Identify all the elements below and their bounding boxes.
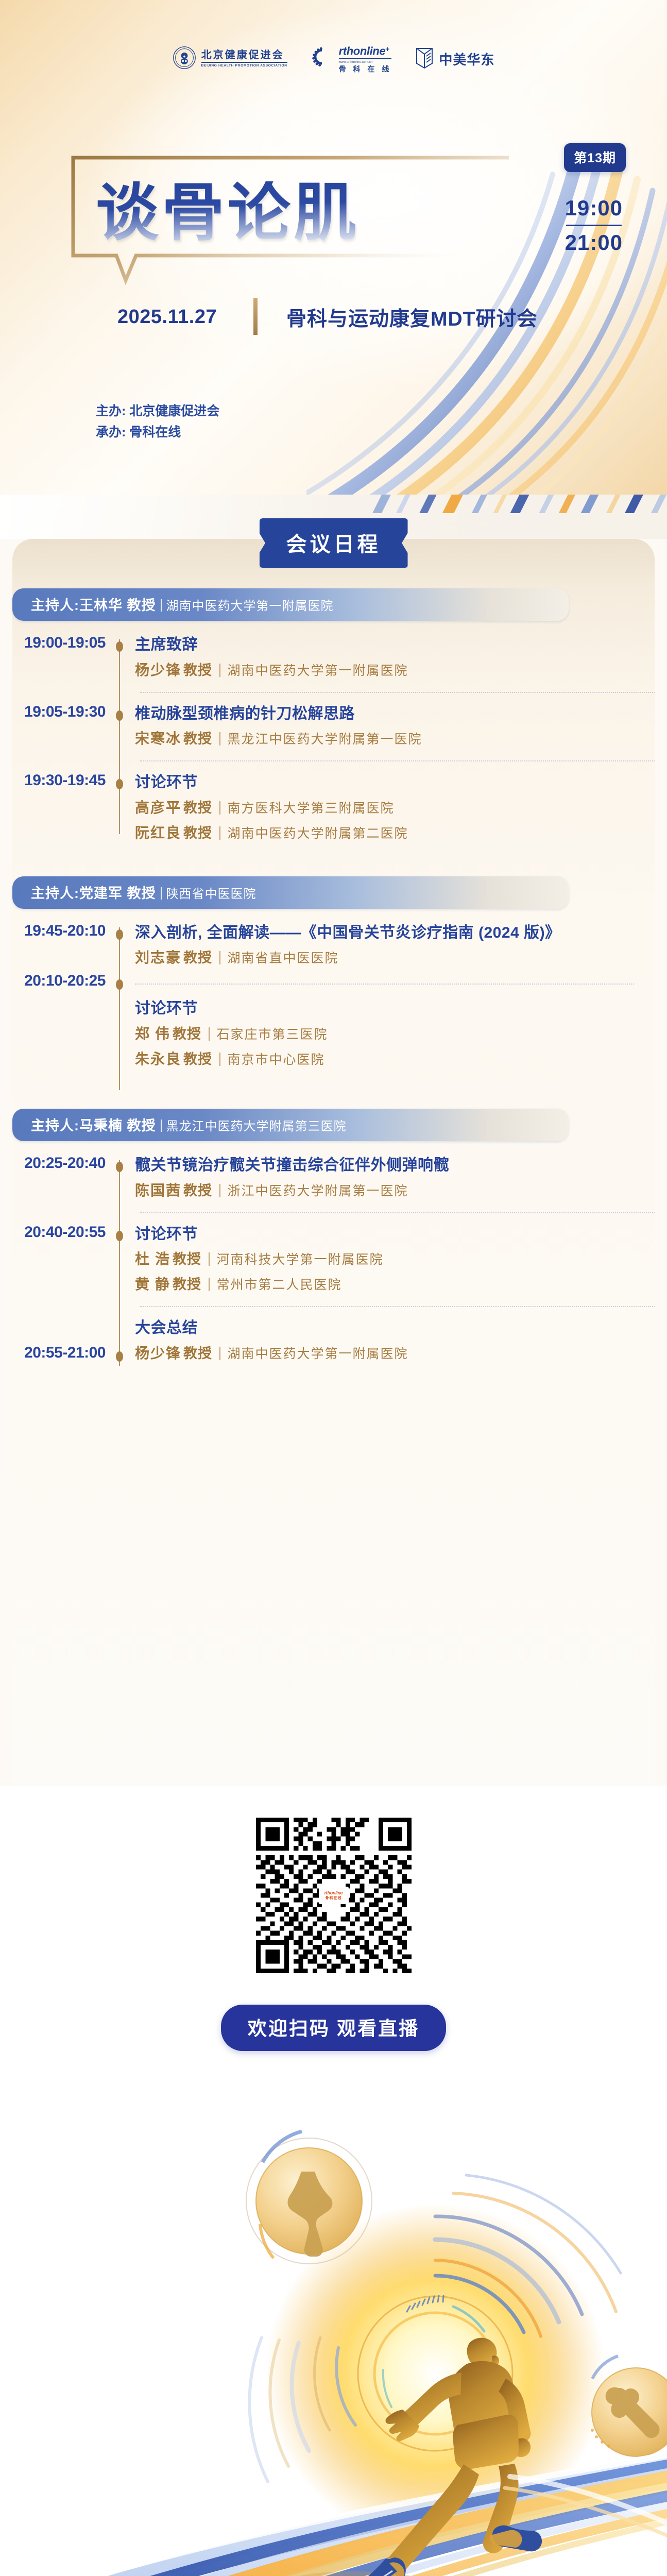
speaker-title: 教授 [183,731,212,747]
speaker-divider [219,1184,220,1197]
item-time: 20:55-21:00 [12,1317,114,1362]
host-institution: 湖南中医药大学第一附属医院 [166,600,334,613]
session-items: 19:45-20:10 深入剖析, 全面解读——《中国骨关节炎诊疗指南 (202… [12,922,655,1071]
timeline-dot-icon [116,710,123,721]
agenda-heading: 会议日程 [260,518,408,568]
agenda-item: 19:05-19:30 椎动脉型颈椎病的针刀松解思路 宋寒冰 教授 黑龙江中医药… [12,703,655,751]
event-date: 2025.11.27 [117,306,217,328]
speaker-divider [209,1278,210,1291]
hero-vertical-divider [253,298,258,335]
speaker-name: 刘志豪 [135,950,181,966]
speaker-divider [219,826,220,840]
agenda-item: 20:55-21:00 大会总结 杨少锋 教授 湖南中医药大学第一附属医院 [12,1317,655,1365]
speaker-name: 杨少锋 [135,663,181,679]
item-speaker: 陈国茜 教授 浙江中医药大学附属第一医院 [135,1180,634,1202]
logo-zhongmei-huadong: 中美华东 [415,46,494,72]
host-name: 马秉楠 教授 [79,1118,156,1133]
hero-section: 北京健康促进会 BEIJING HEALTH PROMOTION ASSOCIA… [0,0,667,495]
timeline-dot-icon [116,1231,123,1241]
speaker-institution: 黑龙江中医药大学附属第一医院 [228,733,422,747]
item-speaker: 杨少锋 教授 湖南中医药大学第一附属医院 [135,660,634,682]
item-topic: 椎动脉型颈椎病的针刀松解思路 [135,703,634,725]
logo-orthonline: rthonline+ www.orthonline.com.cn 骨 科 在 线 [311,45,392,73]
session-items: 19:00-19:05 主席致辞 杨少锋 教授 湖南中医药大学第一附属医院 [12,634,655,844]
qr-logo-line1: rthonline [324,1890,343,1895]
event-time-block: 19:00 21:00 [565,196,623,256]
host-divider [161,1120,162,1132]
prism-cube-icon [415,46,434,72]
speaker-title: 教授 [183,825,212,841]
qr-center-logo-icon: rthonline 骨科在线 [319,1887,349,1904]
speaker-name: 杨少锋 [135,1346,181,1362]
speaker-divider [219,1347,220,1360]
speaker-title: 教授 [183,1183,212,1198]
speaker-name: 阮红良 [135,825,181,841]
host-institution: 陕西省中医医院 [166,888,256,901]
orthonline-swirl-icon [311,46,334,72]
speaker-divider [219,664,220,677]
logo-label-cn: 中美华东 [439,49,494,69]
host-divider [161,599,162,612]
organizer-block: 主办: 北京健康促进会 承办: 骨科在线 [96,401,219,444]
speaker-divider [219,1053,220,1066]
logo-label-orthonline: rthonline [339,44,386,57]
item-speaker: 朱永良 教授 南京市中心医院 [135,1049,634,1071]
logo-divider-rule [339,58,392,59]
speaker-divider [209,1252,210,1266]
item-separator [140,1212,655,1213]
speaker-title: 教授 [183,1346,212,1361]
speaker-title: 教授 [173,1026,201,1042]
item-separator [140,692,655,693]
speaker-divider [219,801,220,815]
logo-divider-rule [201,62,287,63]
speaker-title: 教授 [183,800,212,816]
agenda-item: 19:30-19:45 讨论环节 高彦平 教授 南方医科大学第三附属医院 阮红良… [12,772,655,844]
qr-logo-line2: 骨科在线 [326,1895,342,1901]
speaker-name: 杜 浩 [135,1251,170,1267]
agenda-item: 20:25-20:40 髋关节镜治疗髋关节撞击综合征伴外侧弹响髋 陈国茜 教授 … [12,1155,655,1202]
event-subtitle: 骨科与运动康复MDT研讨会 [286,303,537,332]
diagonal-stripes-decoration [0,495,667,513]
association-emblem-icon [173,46,196,72]
page-title: 谈骨论肌 [96,181,360,244]
issue-number-badge: 第13期 [564,143,626,172]
item-speaker: 刘志豪 教授 湖南省直中医医院 [135,947,634,969]
speaker-name: 陈国茜 [135,1183,181,1199]
speaker-name: 朱永良 [135,1052,181,1067]
speaker-name: 郑 伟 [135,1026,170,1042]
item-time: 19:45-20:10 [12,922,114,940]
agenda-session: 主持人:王林华 教授湖南中医药大学第一附属医院 19:00-19:05 主席致辞… [12,588,655,844]
item-speaker: 杨少锋 教授 湖南中医药大学第一附属医院 [135,1343,634,1365]
logo-url: www.orthonline.com.cn [339,61,392,64]
item-time: 19:00-19:05 [12,634,114,652]
host-divider [161,887,162,900]
item-topic: 讨论环节 [135,772,634,794]
speaker-divider [219,732,220,745]
speaker-institution: 湖南中医药大学第一附属医院 [228,1347,408,1361]
agenda-section: 会议日程 主持人:王林华 教授湖南中医药大学第一附属医院 19:00-19:05… [0,495,667,1786]
event-end-time: 21:00 [565,230,623,255]
host-institution: 黑龙江中医药大学附属第三医院 [166,1120,347,1133]
agenda-item: 19:45-20:10 深入剖析, 全面解读——《中国骨关节炎诊疗指南 (202… [12,922,655,970]
item-topic: 深入剖析, 全面解读——《中国骨关节炎诊疗指南 (2024 版)》 [135,922,634,944]
agenda-session: 主持人:党建军 教授陕西省中医医院 19:45-20:10 深入剖析, 全面解读… [12,876,655,1071]
speaker-divider [209,1027,210,1041]
speaker-title: 教授 [173,1277,201,1292]
item-topic: 讨论环节 [135,1224,634,1246]
session-items: 20:25-20:40 髋关节镜治疗髋关节撞击综合征伴外侧弹响髋 陈国茜 教授 … [12,1155,655,1365]
sponsor-logo-row: 北京健康促进会 BEIJING HEALTH PROMOTION ASSOCIA… [0,45,667,73]
speaker-name: 高彦平 [135,800,181,816]
speaker-title: 教授 [183,950,212,965]
speaker-institution: 南方医科大学第三附属医院 [228,802,395,816]
speaker-divider [219,951,220,964]
item-separator [140,760,655,761]
item-separator [135,984,634,985]
speaker-institution: 河南科技大学第一附属医院 [217,1253,384,1267]
host-name: 党建军 教授 [79,886,156,901]
speaker-institution: 南京市中心医院 [228,1053,325,1067]
session-host-bar: 主持人:王林华 教授湖南中医药大学第一附属医院 [12,588,569,621]
athlete-illustration-section [0,2070,667,2576]
session-host-bar: 主持人:马秉楠 教授黑龙江中医药大学附属第三医院 [12,1109,569,1141]
agenda-session: 主持人:马秉楠 教授黑龙江中医药大学附属第三医院 20:25-20:40 髋关节… [12,1109,655,1365]
item-topic: 髋关节镜治疗髋关节撞击综合征伴外侧弹响髋 [135,1155,634,1177]
host-label: 主持人: [31,598,79,613]
speaker-institution: 石家庄市第三医院 [217,1028,328,1042]
speaker-institution: 浙江中医药大学附属第一医院 [228,1184,408,1198]
item-time: 20:40-20:55 [12,1224,114,1241]
coorganizer-line: 承办: 骨科在线 [96,422,219,443]
qr-section: rthonline 骨科在线 欢迎扫码 观看直播 [0,1786,667,2070]
speaker-name: 黄 静 [135,1277,170,1293]
item-time: 19:05-19:30 [12,703,114,721]
item-time: 20:10-20:25 [12,972,114,990]
time-separator [566,225,622,226]
timeline-dot-icon [116,1162,123,1172]
agenda-item: 20:40-20:55 讨论环节 杜 浩 教授 河南科技大学第一附属医院 黄 静 [12,1224,655,1296]
speaker-institution: 湖南中医药大学第一附属医院 [228,664,408,678]
host-label: 主持人: [31,1118,79,1133]
item-speaker: 宋寒冰 教授 黑龙江中医药大学附属第一医院 [135,728,634,750]
host-label: 主持人: [31,886,79,901]
item-topic: 大会总结 [135,1317,634,1340]
logo-label-en: BEIJING HEALTH PROMOTION ASSOCIATION [201,64,287,68]
item-time: 20:25-20:40 [12,1155,114,1172]
agenda-card: 会议日程 主持人:王林华 教授湖南中医药大学第一附属医院 19:00-19:05… [12,539,655,1786]
item-speaker: 杜 浩 教授 河南科技大学第一附属医院 [135,1249,634,1270]
timeline-dot-icon [116,929,123,940]
session-host-bar: 主持人:党建军 教授陕西省中医医院 [12,876,569,909]
qr-code[interactable]: rthonline 骨科在线 [256,1818,412,1973]
speaker-institution: 湖南省直中医医院 [228,952,339,965]
logo-beijing-health-promotion-association: 北京健康促进会 BEIJING HEALTH PROMOTION ASSOCIA… [173,46,287,72]
speaker-institution: 常州市第二人民医院 [217,1278,342,1292]
item-speaker: 黄 静 教授 常州市第二人民医院 [135,1274,634,1296]
speaker-title: 教授 [183,663,212,678]
item-speaker: 高彦平 教授 南方医科大学第三附属医院 [135,798,634,819]
watch-live-button[interactable]: 欢迎扫码 观看直播 [221,2005,446,2051]
item-time: 19:30-19:45 [12,772,114,789]
speaker-institution: 湖南中医药大学附属第二医院 [228,827,408,841]
item-topic: 讨论环节 [135,998,634,1020]
organizer-line: 主办: 北京健康促进会 [96,401,219,422]
timeline-dot-icon [116,641,123,652]
speaker-title: 教授 [183,1052,212,1067]
item-separator [140,1306,655,1307]
logo-plus-mark: + [385,45,389,53]
speaker-name: 宋寒冰 [135,731,181,747]
agenda-item: 19:00-19:05 主席致辞 杨少锋 教授 湖南中医药大学第一附属医院 [12,634,655,682]
logo-label-cn: 骨 科 在 线 [339,65,392,73]
agenda-item: 20:10-20:25 讨论环节 郑 伟 教授 石家庄市第三医院 朱永良 [12,972,655,1071]
logo-label-cn: 北京健康促进会 [201,50,287,60]
item-speaker: 阮红良 教授 湖南中医药大学附属第二医院 [135,823,634,844]
event-start-time: 19:00 [565,196,623,221]
item-speaker: 郑 伟 教授 石家庄市第三医院 [135,1024,634,1045]
running-athlete-illustration [0,2070,667,2576]
speaker-title: 教授 [173,1251,201,1267]
item-topic: 主席致辞 [135,634,634,656]
host-name: 王林华 教授 [79,598,156,613]
